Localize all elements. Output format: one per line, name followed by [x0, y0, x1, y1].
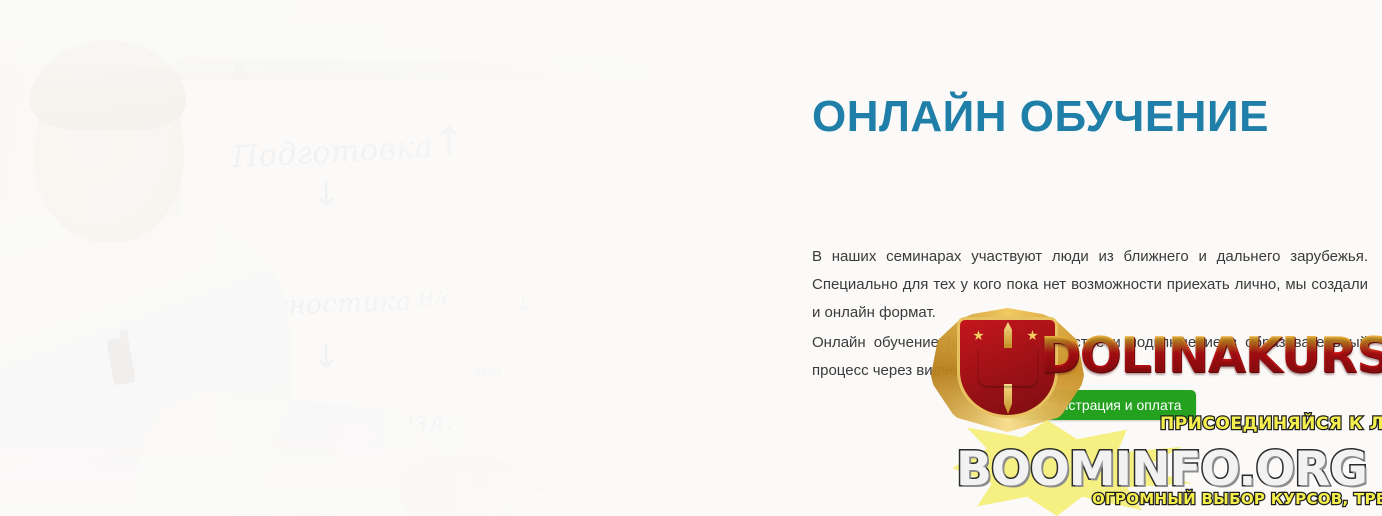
registration-and-payment-button[interactable]: Регистрация и оплата	[1008, 390, 1196, 420]
registration-button-label: Регистрация и оплата	[1039, 397, 1182, 413]
registration-icon	[1018, 398, 1032, 412]
flipchart-arrow: ↓	[512, 290, 534, 316]
hero-photo: Подготовка ↑ ↓ Диагностика Н/с ↓ ↓ мм Ин…	[0, 0, 700, 516]
flipchart-note: Подготовка	[231, 130, 434, 175]
hero-content: ОНЛАЙН ОБУЧЕНИЕ В наших семинарах участв…	[812, 0, 1372, 516]
flipchart-arrow: ↓	[312, 178, 341, 212]
page-title: ОНЛАЙН ОБУЧЕНИЕ	[812, 92, 1269, 142]
microphone-clip-icon	[120, 330, 128, 346]
flipchart-arrow: ↓	[312, 340, 341, 374]
page-root: Подготовка ↑ ↓ Диагностика Н/с ↓ ↓ мм Ин…	[0, 0, 1382, 516]
flipchart-note: Н/с	[418, 287, 454, 310]
flipchart-clip	[234, 62, 244, 78]
flipchart-rail	[174, 60, 650, 80]
photo-content: Подготовка ↑ ↓ Диагностика Н/с ↓ ↓ мм Ин…	[0, 0, 700, 516]
intro-paragraph-2: Онлайн обучение предполагает участие и п…	[812, 329, 1368, 385]
intro-paragraph-1: В наших семинарах участвуют люди из ближ…	[812, 243, 1368, 327]
flipchart-arrow-up: ↑	[432, 122, 466, 162]
flipchart-clip	[584, 62, 594, 78]
flipchart-note: мм	[471, 358, 504, 382]
